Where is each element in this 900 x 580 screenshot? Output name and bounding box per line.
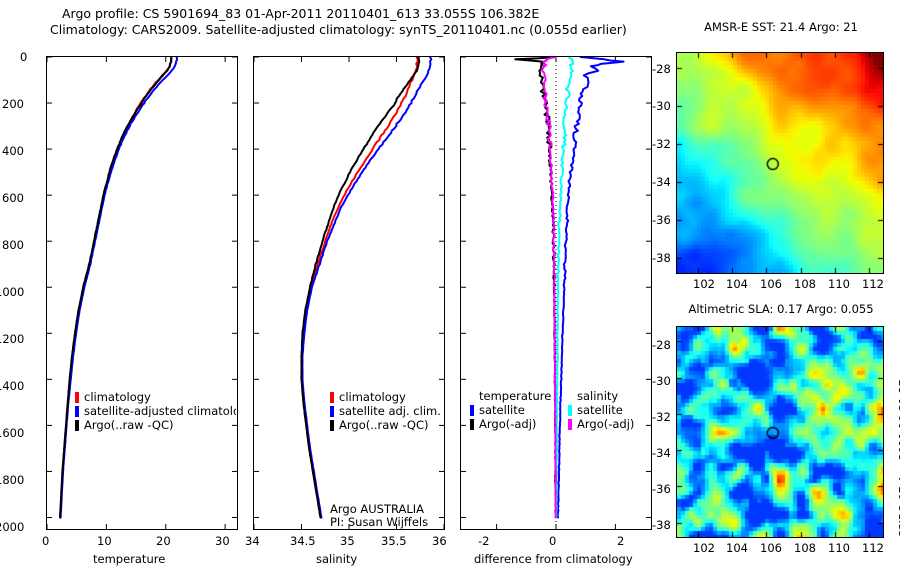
- temperature-axis-label: temperature: [93, 552, 165, 566]
- sal-xtick-34-5: 34.5: [290, 534, 316, 548]
- legend-swatch-argo-icon: [330, 420, 334, 431]
- diff-xtick-0: 0: [549, 534, 556, 548]
- legend-label-argo-raw: Argo(..raw -QC): [339, 419, 429, 431]
- sla-xtick-106: 106: [760, 541, 782, 555]
- sla-ytick--30: -30: [652, 374, 671, 388]
- legend-header-temperature: temperature: [479, 390, 551, 402]
- difference-legend-temperature: temperature satellite Argo(-adj): [470, 390, 551, 431]
- salinity-legend: climatology satellite adj. clim. Argo(..…: [330, 390, 441, 432]
- sst-xtick-112: 112: [862, 277, 884, 291]
- legend-item-climatology[interactable]: climatology: [330, 390, 441, 404]
- sst-ytick--32: -32: [652, 137, 671, 151]
- difference-axis-label: difference from climatology: [474, 552, 633, 566]
- ytick-0: 0: [20, 50, 27, 64]
- legend-swatch-sal-satellite-icon: [568, 405, 572, 416]
- ytick-400: 400: [2, 144, 24, 158]
- sst-heatmap-canvas: [677, 53, 883, 273]
- temperature-profile-panel[interactable]: [46, 56, 238, 530]
- legend-label-sal-argo-adj: Argo(-adj): [577, 418, 634, 430]
- figure-title-line1: Argo profile: CS 5901694_83 01-Apr-2011 …: [62, 6, 539, 21]
- difference-profile-plot: [461, 57, 651, 529]
- ytick-1400: 1400: [0, 379, 24, 393]
- diff-xtick-2: 2: [617, 534, 624, 548]
- sst-ytick--36: -36: [652, 213, 671, 227]
- temp-xtick-0: 0: [42, 534, 49, 548]
- sla-ytick--36: -36: [652, 482, 671, 496]
- legend-item-satellite-adjusted[interactable]: satellite adj. clim.: [330, 404, 441, 418]
- legend-item-temp-argo-adj[interactable]: Argo(-adj): [470, 417, 551, 431]
- sla-xtick-110: 110: [828, 541, 850, 555]
- salinity-profile-panel[interactable]: [253, 56, 445, 530]
- credit-block: Argo AUSTRALIA PI: Susan Wijffels: [330, 503, 428, 529]
- sla-heatmap-canvas: [677, 327, 883, 537]
- sst-ytick--30: -30: [652, 99, 671, 113]
- sst-ytick--28: -28: [652, 62, 671, 76]
- legend-item-temp-satellite[interactable]: satellite: [470, 403, 551, 417]
- ytick-1600: 1600: [0, 426, 24, 440]
- ytick-200: 200: [2, 97, 24, 111]
- legend-label-climatology: climatology: [339, 391, 406, 403]
- sla-map-panel[interactable]: [676, 326, 884, 538]
- ytick-1000: 1000: [0, 285, 24, 299]
- sla-map-title: Altimetric SLA: 0.17 Argo: 0.055: [676, 302, 886, 316]
- legend-label-temp-argo-adj: Argo(-adj): [479, 418, 536, 430]
- sal-xtick-36: 36: [432, 534, 447, 548]
- legend-swatch-satellite-icon: [470, 405, 474, 416]
- sla-xtick-108: 108: [794, 541, 816, 555]
- sst-xtick-104: 104: [726, 277, 748, 291]
- sla-xtick-104: 104: [726, 541, 748, 555]
- sla-ytick--34: -34: [652, 446, 671, 460]
- legend-label-sal-satellite: satellite: [577, 404, 623, 416]
- sla-ytick--32: -32: [652, 410, 671, 424]
- sla-ytick--28: -28: [652, 338, 671, 352]
- sst-map-title: AMSR-E SST: 21.4 Argo: 21: [676, 20, 886, 34]
- legend-item-climatology[interactable]: climatology: [75, 390, 236, 404]
- sst-xtick-102: 102: [693, 277, 715, 291]
- temperature-profile-plot: [47, 57, 237, 529]
- sla-ytick--38: -38: [652, 518, 671, 532]
- legend-label-argo-raw: Argo(..raw -QC): [84, 419, 174, 431]
- legend-swatch-climatology-icon: [75, 392, 79, 403]
- figure-title-line2: Climatology: CARS2009. Satellite-adjuste…: [50, 22, 627, 37]
- temp-xtick-20: 20: [156, 534, 171, 548]
- legend-swatch-argo-icon: [75, 420, 79, 431]
- legend-label-climatology: climatology: [84, 391, 151, 403]
- salinity-profile-plot: [254, 57, 444, 529]
- sst-xtick-110: 110: [828, 277, 850, 291]
- sal-xtick-35: 35: [340, 534, 355, 548]
- legend-item-satellite-adjusted[interactable]: satellite-adjusted climatology: [75, 404, 236, 418]
- legend-header-salinity: salinity: [577, 390, 634, 402]
- temp-xtick-30: 30: [215, 534, 230, 548]
- sst-ytick--38: -38: [652, 251, 671, 265]
- legend-swatch-sal-argo-icon: [568, 419, 572, 430]
- salinity-axis-label: salinity: [316, 552, 357, 566]
- temp-xtick-10: 10: [97, 534, 112, 548]
- legend-swatch-climatology-icon: [330, 392, 334, 403]
- temperature-legend: climatology satellite-adjusted climatolo…: [75, 390, 236, 432]
- legend-item-sal-satellite[interactable]: satellite: [568, 403, 634, 417]
- legend-label-temp-satellite: satellite: [479, 404, 525, 416]
- legend-item-sal-argo-adj[interactable]: Argo(-adj): [568, 417, 634, 431]
- sla-xtick-112: 112: [862, 541, 884, 555]
- sst-ytick--34: -34: [652, 175, 671, 189]
- ytick-2000: 2000: [0, 520, 24, 534]
- diff-xtick-neg2: -2: [478, 534, 489, 548]
- credit-line2: PI: Susan Wijffels: [330, 516, 428, 529]
- sla-xtick-102: 102: [693, 541, 715, 555]
- ytick-1800: 1800: [0, 473, 24, 487]
- sst-xtick-108: 108: [794, 277, 816, 291]
- legend-item-argo-raw[interactable]: Argo(..raw -QC): [330, 418, 441, 432]
- sal-xtick-35-5: 35.5: [381, 534, 407, 548]
- difference-legend-salinity: salinity satellite Argo(-adj): [568, 390, 634, 431]
- ytick-800: 800: [2, 238, 24, 252]
- sst-xtick-106: 106: [760, 277, 782, 291]
- legend-label-satellite-adjusted: satellite adj. clim.: [339, 405, 441, 417]
- legend-swatch-argo-icon: [470, 419, 474, 430]
- legend-swatch-satellite-icon: [330, 406, 334, 417]
- legend-swatch-satellite-icon: [75, 406, 79, 417]
- sal-xtick-34: 34: [245, 534, 260, 548]
- ytick-600: 600: [2, 191, 24, 205]
- legend-item-argo-raw[interactable]: Argo(..raw -QC): [75, 418, 236, 432]
- sst-map-panel[interactable]: [676, 52, 884, 274]
- legend-label-satellite-adjusted: satellite-adjusted climatology: [84, 405, 236, 417]
- difference-profile-panel[interactable]: [460, 56, 652, 530]
- ytick-1200: 1200: [0, 332, 24, 346]
